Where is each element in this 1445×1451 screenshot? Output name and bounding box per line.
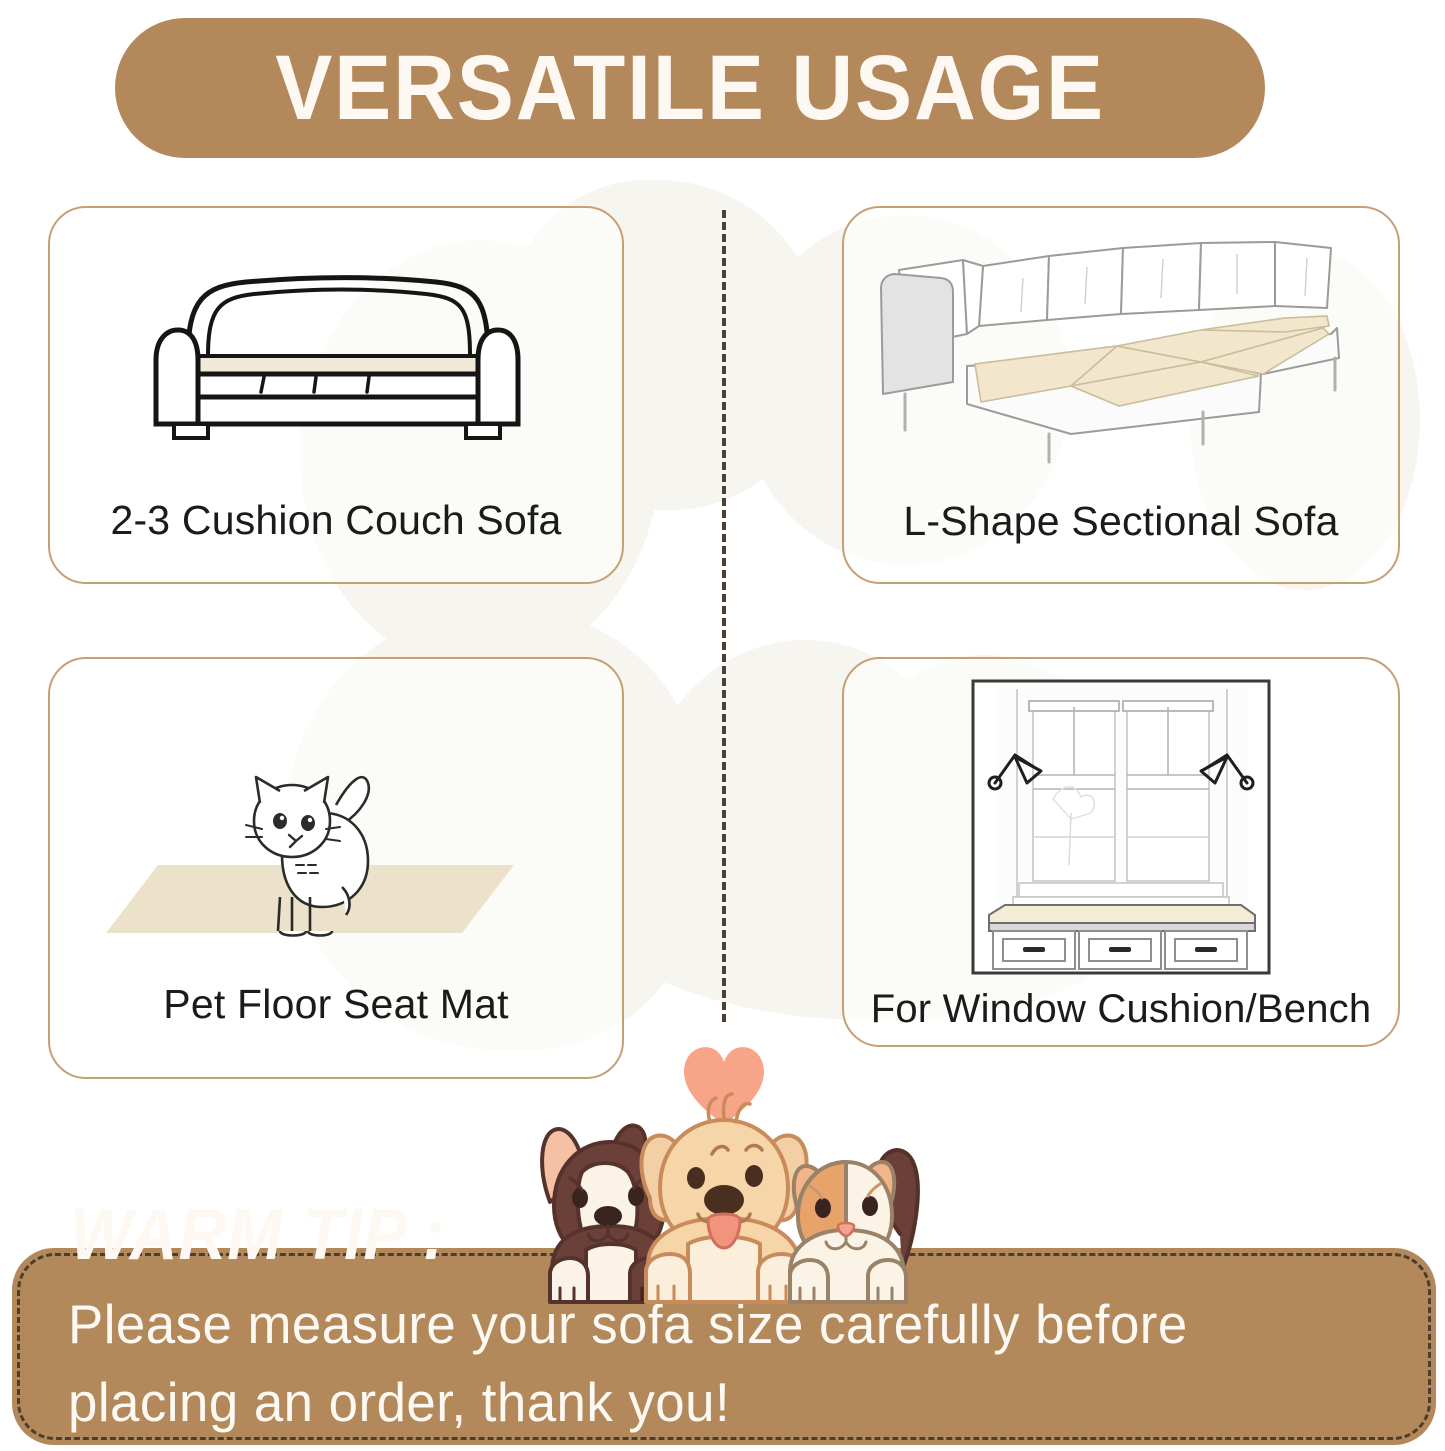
header-banner: VERSATILE USAGE [115, 18, 1265, 158]
page-title: VERSATILE USAGE [275, 42, 1105, 134]
three-pets-illustration [498, 1020, 950, 1310]
usage-card-label: L-Shape Sectional Sofa [844, 498, 1398, 545]
l-shape-sectional-sofa-illustration [844, 234, 1398, 466]
usage-card-couch-sofa: 2-3 Cushion Couch Sofa [48, 206, 624, 584]
usage-card-window-bench: For Window Cushion/Bench [842, 657, 1400, 1047]
usage-card-l-shape-sofa: L-Shape Sectional Sofa [842, 206, 1400, 584]
vertical-dashed-divider [722, 210, 726, 1022]
warm-tip-heading: WARM TIP : [70, 1194, 446, 1276]
warm-tip-line-2: placing an order, thank you! [68, 1375, 730, 1430]
cat-on-mat-illustration [50, 737, 622, 957]
window-bench-illustration [844, 677, 1398, 977]
couch-sofa-illustration [50, 264, 622, 454]
usage-card-label: 2-3 Cushion Couch Sofa [50, 497, 622, 544]
usage-card-pet-mat: Pet Floor Seat Mat [48, 657, 624, 1079]
